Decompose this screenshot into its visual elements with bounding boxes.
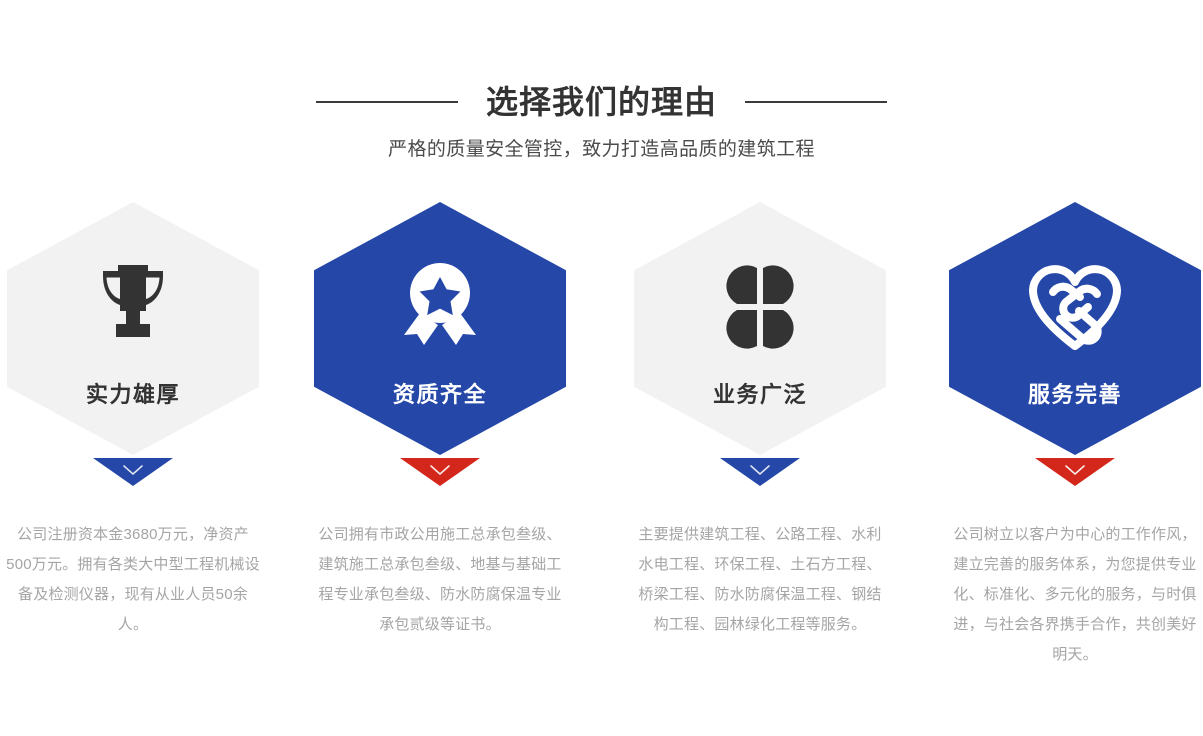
medal-star-icon [314,259,566,355]
card-title: 资质齐全 [314,380,566,410]
card-description: 公司树立以客户为中心的工作作风，建立完善的服务体系，为您提供专业化、标准化、多元… [948,520,1202,670]
card-title: 实力雄厚 [7,380,259,410]
card-badge [93,458,173,486]
card-badge [720,458,800,486]
card-description: 公司拥有市政公用施工总承包叁级、建筑施工总承包叁级、地基与基础工程专业承包叁级、… [313,520,567,640]
feature-card[interactable]: 服务完善 [949,202,1201,492]
card-badge [1035,458,1115,486]
page-subtitle: 严格的质量安全管控，致力打造高品质的建筑工程 [0,136,1203,164]
feature-card[interactable]: 资质齐全 [314,202,566,492]
trophy-icon [7,259,259,355]
feature-card[interactable]: 业务广泛 [634,202,886,492]
section-header: 选择我们的理由 严格的质量安全管控，致力打造高品质的建筑工程 [0,82,1203,164]
card-title: 服务完善 [949,380,1201,410]
feature-descriptions: 公司注册资本金3680万元，净资产500万元。拥有各类大中型工程机械设备及检测仪… [0,520,1203,690]
card-badge [400,458,480,486]
card-description: 公司注册资本金3680万元，净资产500万元。拥有各类大中型工程机械设备及检测仪… [6,520,260,640]
title-row: 选择我们的理由 [0,82,1203,122]
four-petal-clover-icon [634,259,886,355]
card-description: 主要提供建筑工程、公路工程、水利水电工程、环保工程、土石方工程、桥梁工程、防水防… [633,520,887,640]
handshake-heart-icon [949,259,1201,355]
card-title: 业务广泛 [634,380,886,410]
page-title: 选择我们的理由 [486,82,717,122]
feature-card[interactable]: 实力雄厚 [7,202,259,492]
title-rule-left [316,101,458,103]
title-rule-right [745,101,887,103]
